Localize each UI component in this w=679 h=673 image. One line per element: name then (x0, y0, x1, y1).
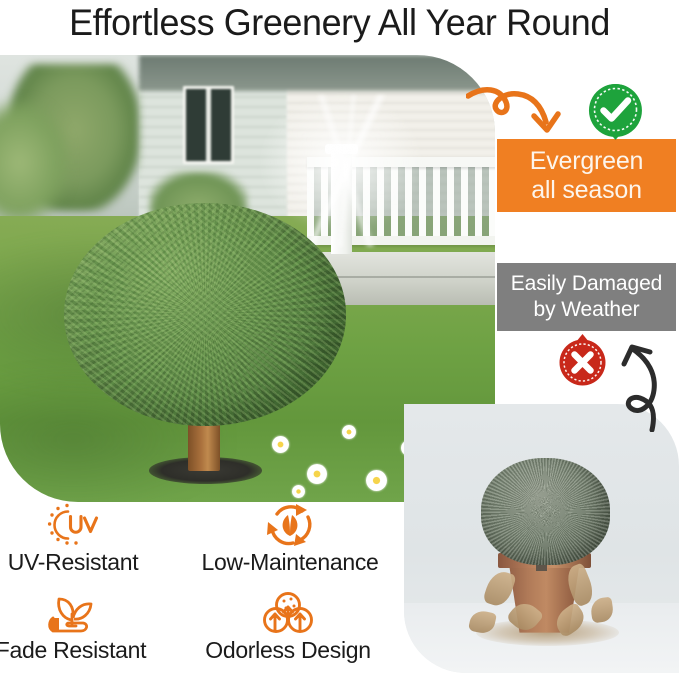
sun-uv-icon (47, 502, 99, 548)
withered-foliage-texture (481, 458, 610, 566)
feature-label: Low-Maintenance (190, 549, 390, 576)
product-infographic: Effortless Greenery All Year Round (0, 0, 679, 673)
feature-list: UV-Resistant Low-Maintenance (0, 500, 400, 673)
house-window (183, 86, 234, 164)
feature-label: Fade Resistant (0, 637, 171, 664)
feature-odorless-design: Odorless Design (188, 588, 388, 673)
check-badge-icon (587, 83, 644, 140)
curved-arrow-down-icon (466, 78, 578, 140)
evergreen-callout-box: Evergreen all season (497, 139, 676, 212)
topiary-texture (64, 203, 346, 427)
air-fresh-icon (262, 590, 314, 636)
damaged-plant-photo (404, 404, 679, 673)
feature-uv-resistant: UV-Resistant (0, 500, 173, 588)
background-tree (0, 100, 69, 225)
evergreen-callout-label: Evergreen all season (530, 147, 644, 205)
weather-damage-callout-box: Easily Damaged by Weather (497, 263, 676, 331)
weather-damage-callout-label: Easily Damaged by Weather (511, 271, 663, 323)
recycle-leaf-icon (264, 502, 316, 548)
x-badge-icon (556, 334, 609, 387)
feature-label: UV-Resistant (0, 549, 173, 576)
feature-fade-resistant: Fade Resistant (0, 588, 171, 673)
feature-low-maintenance: Low-Maintenance (190, 500, 390, 588)
hand-plant-icon (45, 590, 97, 636)
page-title: Effortless Greenery All Year Round (10, 0, 669, 48)
curved-arrow-up-icon (612, 336, 672, 432)
feature-label: Odorless Design (188, 637, 388, 664)
